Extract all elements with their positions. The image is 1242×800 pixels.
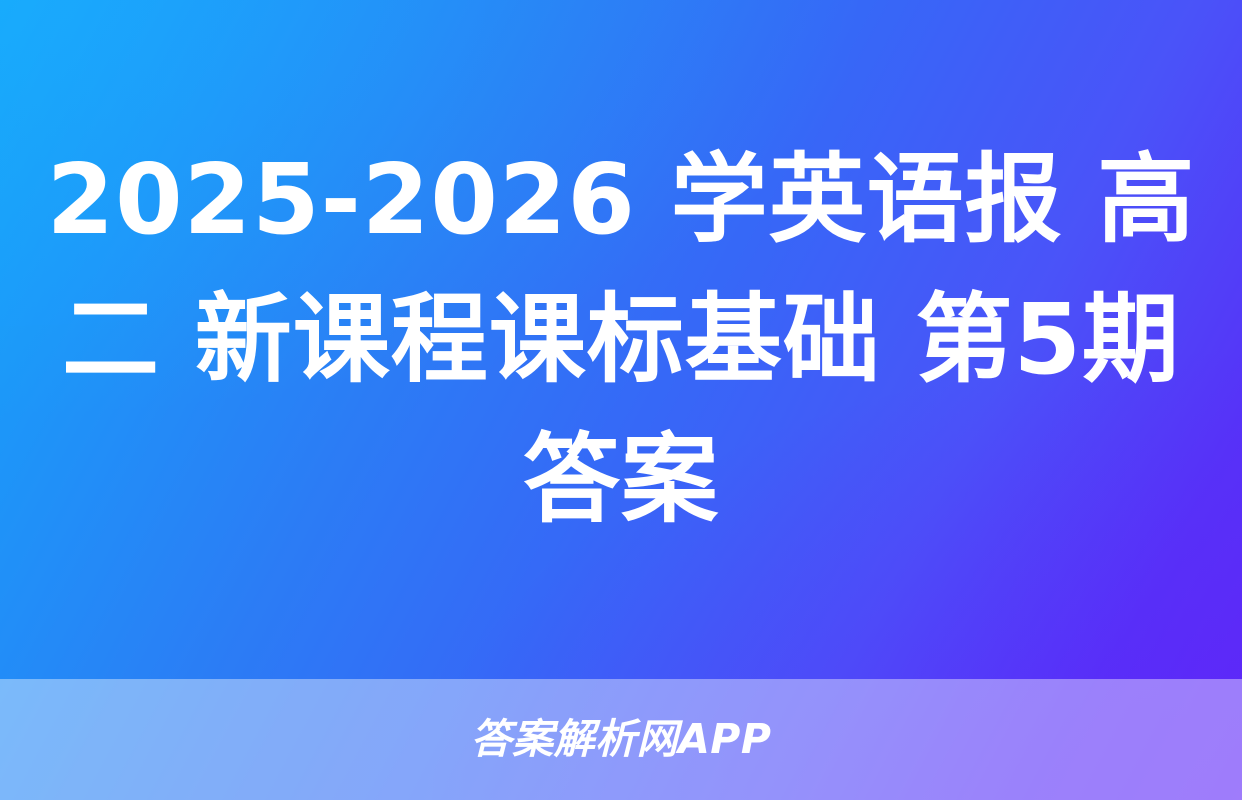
app-name-label: 答案解析网APP — [471, 719, 772, 760]
page-title: 2025-2026 学英语报 高二 新课程课标基础 第5期答案 — [36, 130, 1206, 550]
title-container: 2025-2026 学英语报 高二 新课程课标基础 第5期答案 — [0, 0, 1242, 679]
app-watermark-bar: 答案解析网APP — [0, 679, 1242, 800]
poster-canvas: 2025-2026 学英语报 高二 新课程课标基础 第5期答案 答案解析网APP — [0, 0, 1242, 800]
